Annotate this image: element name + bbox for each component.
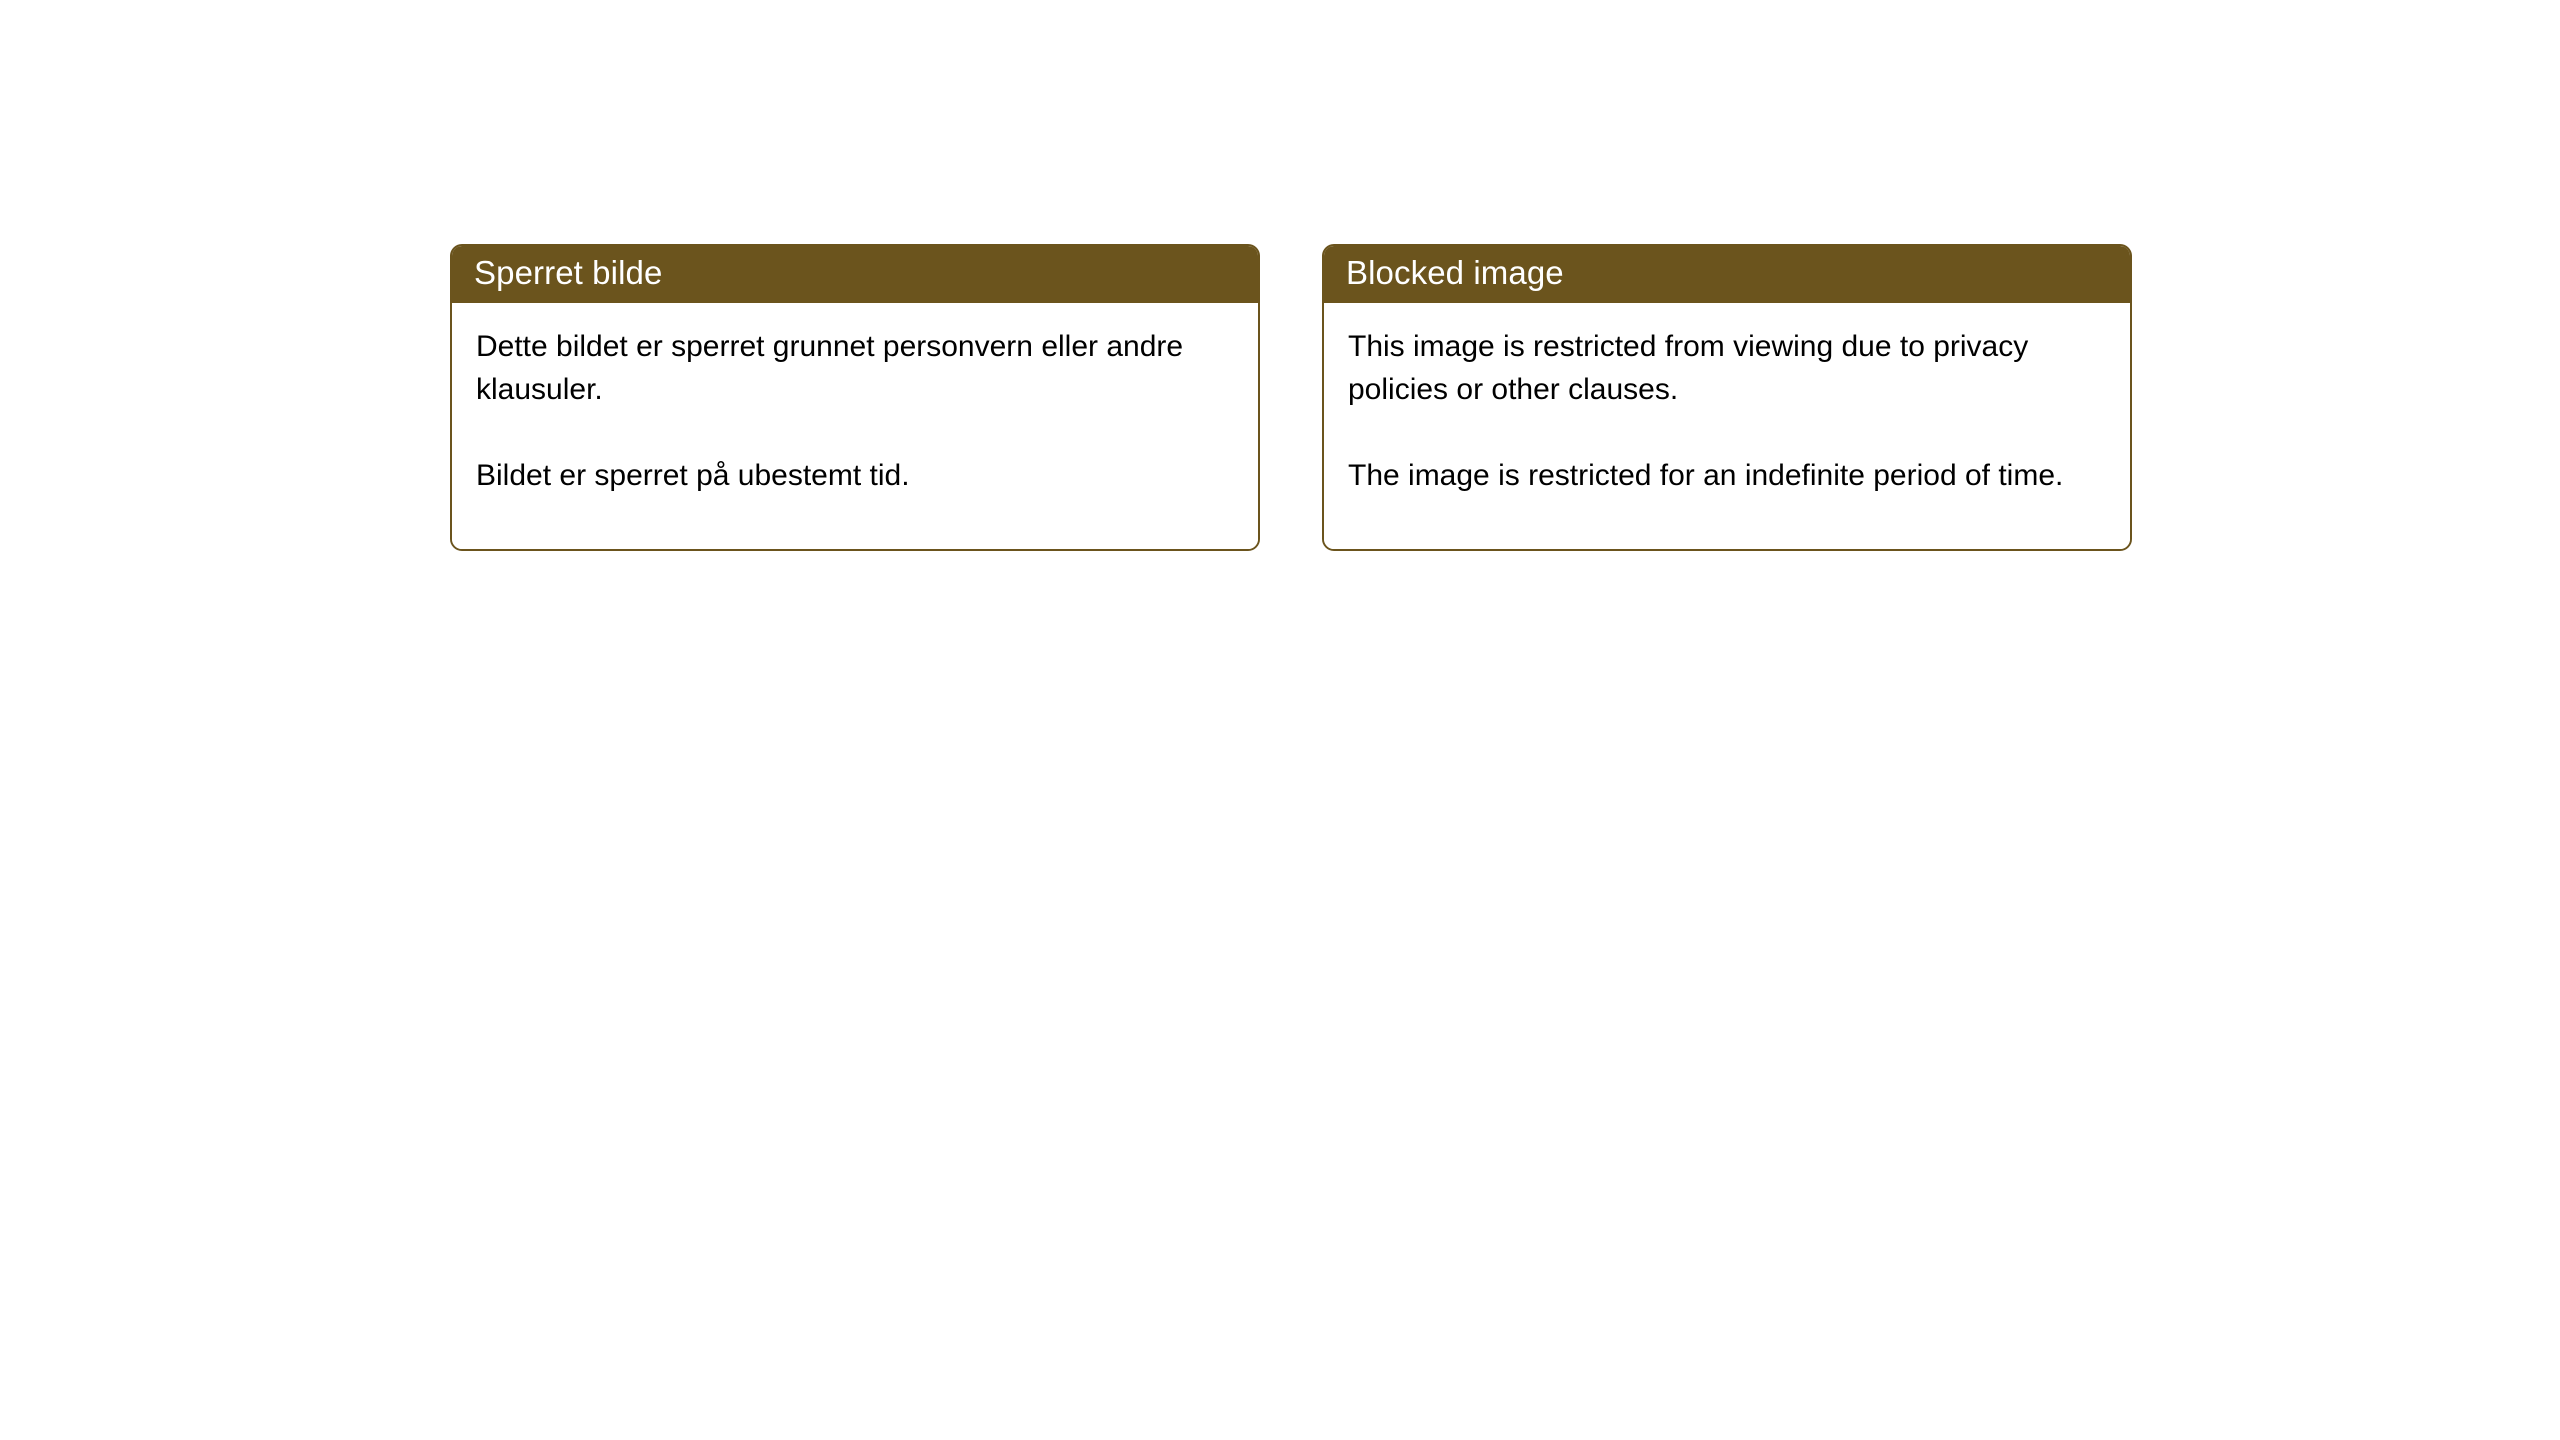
blocked-image-card-norwegian: Sperret bilde Dette bildet er sperret gr… [450,244,1260,551]
card-title-english: Blocked image [1346,253,1564,293]
card-title-norwegian: Sperret bilde [474,253,662,293]
card-paragraph-duration-english: The image is restricted for an indefinit… [1348,454,2106,497]
card-body-english: This image is restricted from viewing du… [1324,303,2130,549]
blocked-image-notice-board: Sperret bilde Dette bildet er sperret gr… [450,244,2132,551]
card-paragraph-reason-english: This image is restricted from viewing du… [1348,325,2106,411]
card-body-norwegian: Dette bildet er sperret grunnet personve… [452,303,1258,549]
card-paragraph-reason-norwegian: Dette bildet er sperret grunnet personve… [476,325,1234,411]
card-header-english: Blocked image [1324,246,2130,303]
card-paragraph-duration-norwegian: Bildet er sperret på ubestemt tid. [476,454,1234,497]
blocked-image-card-english: Blocked image This image is restricted f… [1322,244,2132,551]
card-header-norwegian: Sperret bilde [452,246,1258,303]
